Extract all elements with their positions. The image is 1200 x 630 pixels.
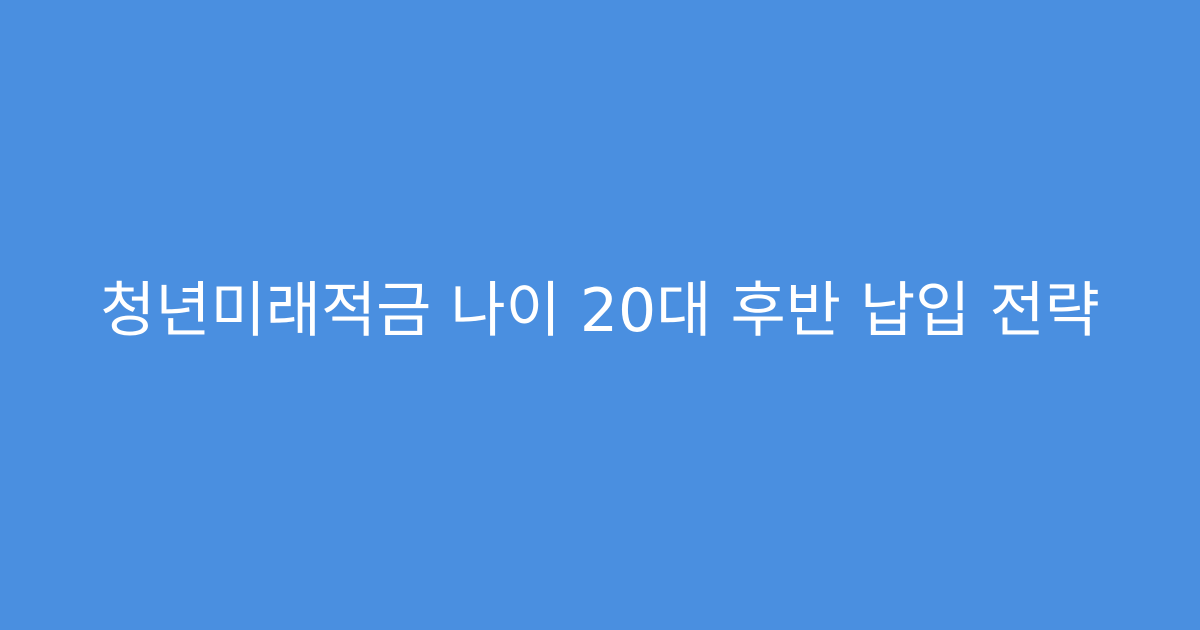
og-image-card: 청년미래적금 나이 20대 후반 납입 전략 [0, 0, 1200, 630]
card-title: 청년미래적금 나이 20대 후반 납입 전략 [100, 274, 1100, 349]
